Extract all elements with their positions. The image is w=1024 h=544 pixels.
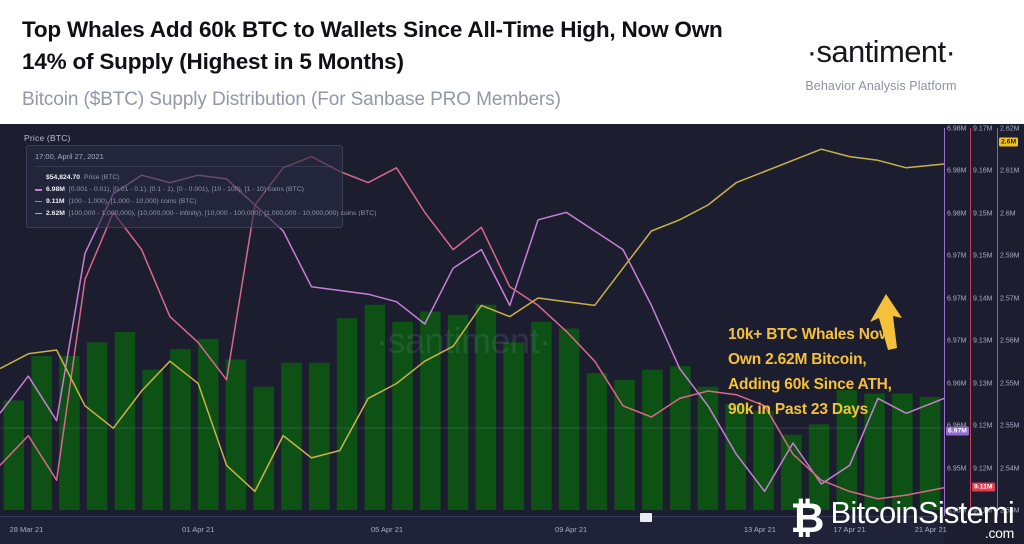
y-axis-tick: 2.59M	[1000, 253, 1019, 260]
y-axis-tick: 9.15M	[973, 210, 992, 217]
price-bar	[392, 322, 413, 510]
price-bar	[4, 401, 25, 511]
y-axis-tick: 2.62M	[1000, 126, 1019, 133]
series-color-dash	[35, 213, 42, 215]
tooltip-row: $54,824.70Price (BTC)	[35, 172, 334, 184]
price-bar	[87, 342, 108, 510]
bitcoinsistemi-name: BitcoinSistemi	[831, 497, 1014, 528]
price-bar	[920, 397, 941, 510]
tooltip-row-value: $54,824.70	[46, 172, 80, 184]
tooltip-row-desc: Price (BTC)	[84, 172, 120, 184]
chart-tooltip: 17:00, April 27, 2021 $54,824.70Price (B…	[26, 145, 343, 228]
tooltip-row-desc: [0.001 - 0.01), [0.01 - 0.1), [0.1 - 1),…	[69, 184, 304, 196]
bitcoin-icon: ₿	[790, 501, 824, 535]
bitcoinsistemi-text: BitcoinSistemi .com	[831, 497, 1014, 540]
y-axis-tick: 6.95M	[947, 465, 966, 472]
price-bar	[115, 332, 136, 510]
tooltip-row: 9.11M[100 - 1,000), [1,000 - 10,000) coi…	[35, 196, 334, 208]
y-axis-tick: 2.55M	[1000, 423, 1019, 430]
tooltip-rows: $54,824.70Price (BTC)6.98M[0.001 - 0.01)…	[35, 172, 334, 220]
price-bar	[587, 373, 608, 510]
y-axis-tick: 6.98M	[947, 168, 966, 175]
x-axis-tick: 09 Apr 21	[555, 525, 587, 534]
tooltip-row: 6.98M[0.001 - 0.01), [0.01 - 0.1), [0.1 …	[35, 184, 334, 196]
annotation-line-4: 90k in Past 23 Days	[728, 397, 892, 422]
y-axis-purple[interactable]: 6.98M6.98M6.98M6.97M6.97M6.97M6.96M6.96M…	[944, 124, 970, 516]
y-axis-tick: 6.97M	[947, 295, 966, 302]
y-axis-tick: 9.14M	[973, 295, 992, 302]
tooltip-row: 2.62M[100,000 - 1,000,000), [10,000,000 …	[35, 208, 334, 220]
price-bar	[254, 387, 275, 510]
axis-rule	[944, 128, 945, 516]
y-axis-tick: 2.57M	[1000, 295, 1019, 302]
y-axis-tick: 9.12M	[973, 423, 992, 430]
y-axis-tick: 9.13M	[973, 380, 992, 387]
y-axis-tick: 9.13M	[973, 338, 992, 345]
annotation-line-3: Adding 60k Since ATH,	[728, 372, 892, 397]
y-axis-tick: 6.96M	[947, 380, 966, 387]
price-bar	[476, 305, 497, 510]
price-bar	[559, 329, 580, 510]
santiment-logo: ·santiment·	[756, 34, 1006, 70]
y-axis-tick: 2.55M	[1000, 380, 1019, 387]
page-title: Top Whales Add 60k BTC to Wallets Since …	[22, 14, 752, 78]
price-bar	[337, 318, 358, 510]
page-subtitle: Bitcoin ($BTC) Supply Distribution (For …	[22, 88, 752, 113]
price-bar	[531, 322, 552, 510]
price-tab-label[interactable]: Price (BTC)	[24, 133, 71, 143]
series-color-dash	[35, 201, 42, 203]
y-axis-tick: 9.16M	[973, 168, 992, 175]
y-axis-tick: 9.15M	[973, 253, 992, 260]
x-axis-tick: 28 Mar 21	[10, 525, 44, 534]
tooltip-row-value: 2.62M	[46, 208, 65, 220]
series-color-dash	[35, 189, 42, 191]
tooltip-row-value: 9.11M	[46, 196, 65, 208]
price-bar	[226, 359, 247, 510]
y-axis-tick: 2.56M	[1000, 338, 1019, 345]
y-axis-tick: 9.12M	[973, 465, 992, 472]
axis-current-value-badge: 6.97M	[946, 426, 969, 435]
axis-current-value-badge: 2.6M	[999, 137, 1018, 146]
price-bar	[142, 370, 163, 510]
header-text-block: Top Whales Add 60k BTC to Wallets Since …	[22, 14, 752, 113]
price-bar	[59, 356, 80, 510]
y-axis-tick: 6.97M	[947, 338, 966, 345]
brand-tagline: Behavior Analysis Platform	[756, 79, 1006, 93]
y-axis-yellow[interactable]: 2.62M2.61M2.6M2.59M2.57M2.56M2.55M2.55M2…	[997, 124, 1023, 516]
horizontal-scrollbar[interactable]	[640, 513, 652, 522]
price-bar	[31, 356, 52, 510]
price-bar	[753, 411, 774, 510]
price-bar	[420, 312, 441, 511]
header: Top Whales Add 60k BTC to Wallets Since …	[0, 0, 1024, 124]
x-axis-tick: 01 Apr 21	[182, 525, 214, 534]
tooltip-row-desc: [100 - 1,000), [1,000 - 10,000) coins (B…	[69, 196, 197, 208]
price-bar	[309, 363, 330, 510]
y-axis-tick: 9.17M	[973, 126, 992, 133]
price-bar	[642, 370, 663, 510]
x-axis-tick: 13 Apr 21	[744, 525, 776, 534]
price-bar	[170, 349, 191, 510]
y-axis-tick: 2.54M	[1000, 465, 1019, 472]
y-axis-tick: 6.97M	[947, 253, 966, 260]
axis-current-value-badge: 9.11M	[972, 482, 995, 491]
price-bar	[503, 342, 524, 510]
screenshot-root: Top Whales Add 60k BTC to Wallets Since …	[0, 0, 1024, 544]
price-bar	[448, 315, 469, 510]
y-axis-tick: 6.98M	[947, 126, 966, 133]
x-axis-tick: 05 Apr 21	[371, 525, 403, 534]
axis-rule	[997, 128, 998, 516]
y-axis-tick: 2.61M	[1000, 168, 1019, 175]
tooltip-row-desc: [100,000 - 1,000,000), [10,000,000 - inf…	[69, 208, 377, 220]
tooltip-date: 17:00, April 27, 2021	[35, 152, 334, 167]
axis-rule	[970, 128, 971, 516]
bitcoinsistemi-watermark: ₿ BitcoinSistemi .com	[790, 497, 1014, 540]
price-bar	[670, 366, 691, 510]
brand-block: ·santiment· Behavior Analysis Platform	[756, 14, 1006, 93]
y-axis-tick: 6.98M	[947, 210, 966, 217]
y-axis-red[interactable]: 9.17M9.16M9.15M9.15M9.14M9.13M9.13M9.12M…	[970, 124, 996, 516]
price-bar	[614, 380, 635, 510]
tooltip-row-value: 6.98M	[46, 184, 65, 196]
y-axis-pane: 6.98M6.98M6.98M6.97M6.97M6.97M6.96M6.96M…	[944, 124, 1024, 544]
y-axis-tick: 2.6M	[1000, 210, 1016, 217]
price-bar	[365, 305, 386, 510]
up-arrow-icon	[866, 292, 906, 352]
